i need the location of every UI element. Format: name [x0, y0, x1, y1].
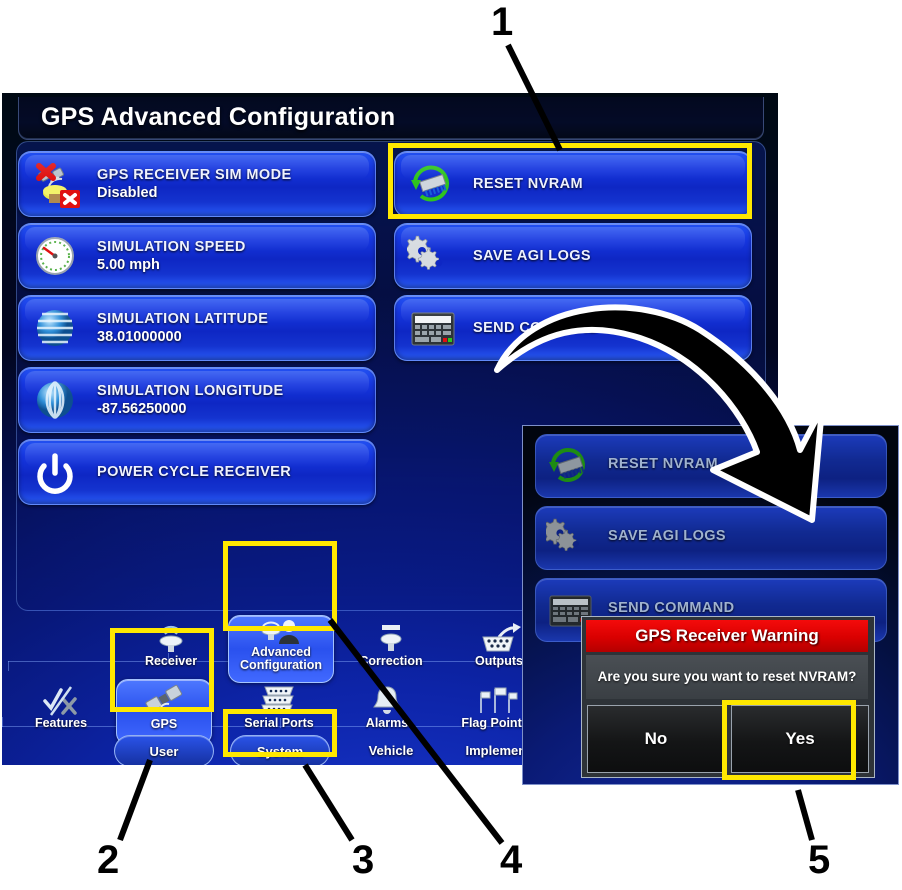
page-title-bar: GPS Advanced Configuration — [18, 97, 764, 140]
leader-line-2 — [120, 760, 150, 840]
speedometer-icon — [31, 232, 83, 280]
gps-sim-disabled-icon — [31, 160, 83, 208]
callout-number-4: 4 — [500, 838, 522, 883]
option-text: SIMULATION LATITUDE 38.01000000 — [97, 296, 268, 360]
nav-item-user[interactable]: User — [114, 735, 214, 765]
highlight-reset-nvram — [388, 143, 752, 219]
highlight-gps — [110, 628, 214, 712]
leader-line-3 — [305, 765, 352, 840]
gears-icon — [546, 515, 596, 561]
option-value: 5.00 mph — [97, 256, 246, 274]
option-value: Disabled — [97, 184, 292, 202]
option-send-command[interactable]: SEND COMMAND — [394, 295, 752, 361]
leader-line-5 — [798, 790, 812, 840]
correction-antenna-icon — [342, 621, 440, 655]
inset-row-reset-nvram[interactable]: RESET NVRAM — [535, 434, 887, 498]
nav-tick-b — [2, 717, 3, 727]
nav-item-label: Alarms — [338, 717, 436, 730]
option-label: SIMULATION LATITUDE — [97, 310, 268, 328]
nav-tick-a — [8, 661, 9, 671]
dialog-message: Are you sure you want to reset NVRAM? — [586, 655, 868, 699]
highlight-advanced-configuration — [223, 541, 337, 631]
check-x-icon — [12, 683, 110, 717]
option-text: SAVE AGI LOGS — [473, 224, 591, 288]
option-simulation-longitude[interactable]: SIMULATION LONGITUDE -87.56250000 — [18, 367, 376, 433]
inset-row-label: SEND COMMAND — [608, 600, 734, 616]
nav-item-alarms[interactable]: Alarms — [338, 683, 436, 739]
nav-item-label: Implement — [465, 743, 530, 758]
option-value: 38.01000000 — [97, 328, 268, 346]
terminal-icon — [407, 304, 459, 352]
dialog-title: GPS Receiver Warning — [635, 626, 819, 646]
option-label: SEND COMMAND — [473, 319, 599, 337]
nav-item-features[interactable]: Features — [12, 683, 110, 739]
inset-row-save-agi-logs[interactable]: SAVE AGI LOGS — [535, 506, 887, 570]
globe-latitude-icon — [31, 304, 83, 352]
option-save-agi-logs[interactable]: SAVE AGI LOGS — [394, 223, 752, 289]
highlight-yes-button — [722, 700, 856, 780]
option-text: SIMULATION LONGITUDE -87.56250000 — [97, 368, 284, 432]
option-value: -87.56250000 — [97, 400, 284, 418]
callout-number-3: 3 — [352, 838, 374, 883]
option-power-cycle-receiver[interactable]: POWER CYCLE RECEIVER — [18, 439, 376, 505]
option-label: SAVE AGI LOGS — [473, 247, 591, 265]
option-text: POWER CYCLE RECEIVER — [97, 440, 291, 504]
callout-number-1: 1 — [491, 0, 513, 45]
dialog-no-label: No — [645, 729, 668, 749]
dialog-title-bar: GPS Receiver Warning — [586, 620, 868, 652]
globe-longitude-icon — [31, 376, 83, 424]
bell-icon — [338, 683, 436, 717]
nav-item-label: User — [150, 744, 179, 759]
callout-number-2: 2 — [97, 838, 119, 883]
nav-item-label: GPS — [117, 718, 211, 731]
nav-item-label: Vehicle — [369, 743, 414, 758]
page-title: GPS Advanced Configuration — [41, 103, 395, 132]
gears-icon — [407, 232, 459, 280]
inset-row-label: SAVE AGI LOGS — [608, 528, 726, 544]
reset-nvram-icon — [546, 443, 596, 489]
nav-item-vehicle[interactable]: Vehicle — [346, 735, 436, 765]
option-text: SEND COMMAND — [473, 296, 599, 360]
option-gps-receiver-sim-mode[interactable]: GPS RECEIVER SIM MODE Disabled — [18, 151, 376, 217]
option-label: SIMULATION SPEED — [97, 238, 246, 256]
inset-row-label: RESET NVRAM — [608, 456, 718, 472]
nav-item-label: Features — [12, 717, 110, 730]
option-simulation-speed[interactable]: SIMULATION SPEED 5.00 mph — [18, 223, 376, 289]
option-text: GPS RECEIVER SIM MODE Disabled — [97, 152, 292, 216]
option-label: GPS RECEIVER SIM MODE — [97, 166, 292, 184]
option-label: POWER CYCLE RECEIVER — [97, 463, 291, 481]
callout-number-5: 5 — [808, 838, 830, 883]
option-simulation-latitude[interactable]: SIMULATION LATITUDE 38.01000000 — [18, 295, 376, 361]
nav-item-label: Advanced Configuration — [229, 646, 333, 672]
dialog-no-button[interactable]: No — [587, 705, 725, 773]
power-icon — [31, 448, 83, 496]
option-text: SIMULATION SPEED 5.00 mph — [97, 224, 246, 288]
nav-item-label: Correction — [342, 655, 440, 668]
highlight-system — [223, 709, 337, 757]
option-label: SIMULATION LONGITUDE — [97, 382, 284, 400]
nav-item-correction[interactable]: Correction — [342, 621, 440, 677]
